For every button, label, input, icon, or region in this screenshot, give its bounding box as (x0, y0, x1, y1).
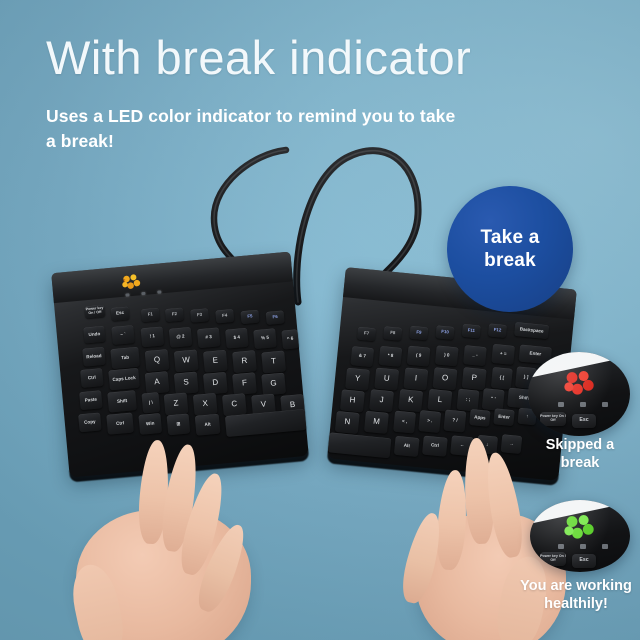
key-backspace[interactable]: Backspace (514, 322, 549, 339)
key-e[interactable]: E (203, 350, 228, 373)
key-f6[interactable]: F6 (266, 310, 285, 325)
key-o[interactable]: O (433, 367, 458, 390)
key-undo[interactable]: Undo (83, 326, 105, 344)
take-a-break-line1: Take a (481, 226, 540, 249)
key-f2[interactable]: F2 (165, 308, 184, 323)
key-paste[interactable]: Paste (79, 390, 103, 410)
key-f9[interactable]: F9 (409, 326, 428, 341)
take-a-break-text: Take a break (481, 226, 540, 272)
key-f1[interactable]: F1 (141, 308, 160, 323)
key-z[interactable]: Z (164, 393, 189, 416)
key-l[interactable]: L (427, 389, 452, 412)
key-2[interactable]: @ 2 (169, 327, 193, 348)
key-6[interactable]: ^ 6 (281, 329, 299, 349)
key-8[interactable]: * 8 (379, 346, 403, 367)
key-copy[interactable]: Copy (78, 412, 102, 432)
key-caps-lock[interactable]: Caps Lock (108, 368, 140, 391)
key-comma[interactable]: < , (393, 411, 416, 434)
healthy-magnifier-glass (530, 500, 630, 572)
key-win[interactable]: Win (138, 413, 162, 435)
key-f8[interactable]: F8 (383, 326, 402, 341)
key-m[interactable]: M (364, 411, 389, 434)
key-minus[interactable]: _ - (463, 345, 487, 366)
key-5[interactable]: % 5 (253, 328, 277, 349)
healthy-line1: You are working (512, 578, 640, 596)
healthy-label: You are working healthily! (512, 578, 640, 613)
key-x[interactable]: X (193, 393, 218, 416)
key-t[interactable]: T (261, 351, 286, 374)
skipped-break-magnifier: Power key On / Off Esc (528, 352, 630, 436)
key-3[interactable]: # 3 (197, 327, 221, 348)
key-k[interactable]: K (398, 389, 423, 412)
key-shift[interactable]: Shift (107, 390, 137, 412)
skipped-line2: break (525, 455, 635, 473)
key-7[interactable]: & 7 (350, 346, 374, 367)
key-4[interactable]: $ 4 (225, 328, 249, 349)
keyboard-left-keys: Power key On / Off Esc F1 F2 F3 F4 F5 F6… (51, 252, 309, 478)
key-r[interactable]: R (232, 350, 257, 373)
key-period[interactable]: > . (418, 410, 441, 433)
key-c[interactable]: C (222, 393, 247, 416)
key-tilde[interactable]: ~ ` (111, 325, 135, 345)
key-d[interactable]: D (203, 372, 228, 395)
key-bracket-left[interactable]: { [ (491, 367, 513, 390)
key-f5[interactable]: F5 (240, 310, 259, 325)
key-f10[interactable]: F10 (435, 325, 454, 340)
key-ctrl-left[interactable]: Ctrl (80, 368, 104, 388)
key-windows-icon[interactable]: ⊞ (167, 413, 191, 435)
skipped-line1: Skipped a (525, 437, 635, 455)
key-space-right[interactable] (328, 432, 392, 458)
key-i[interactable]: I (403, 367, 428, 390)
key-1[interactable]: ! 1 (141, 326, 165, 347)
key-f4[interactable]: F4 (215, 309, 234, 324)
key-slash[interactable]: ? / (443, 410, 466, 433)
key-h[interactable]: H (340, 389, 365, 412)
key-esc[interactable]: Esc (111, 306, 130, 321)
page-subheading: Uses a LED color indicator to remind you… (46, 104, 466, 154)
key-power[interactable]: Power key On / Off (84, 305, 105, 319)
key-0[interactable]: ) 0 (435, 345, 459, 366)
key-n[interactable]: N (335, 411, 360, 434)
key-f11[interactable]: F11 (462, 324, 481, 339)
key-alt[interactable]: Alt (195, 414, 221, 436)
key-y[interactable]: Y (345, 368, 370, 391)
key-f12[interactable]: F12 (488, 323, 507, 338)
key-g[interactable]: G (261, 373, 286, 396)
key-q[interactable]: Q (145, 349, 170, 372)
key-ctrl-bottom[interactable]: Ctrl (106, 413, 134, 435)
page-title: With break indicator (46, 33, 471, 83)
key-f[interactable]: F (232, 372, 257, 395)
key-p[interactable]: P (462, 367, 487, 390)
key-apps[interactable]: Apps (469, 409, 490, 427)
key-f3[interactable]: F3 (190, 308, 209, 323)
key-a[interactable]: A (145, 371, 170, 394)
key-9[interactable]: ( 9 (407, 346, 431, 367)
key-semicolon[interactable]: : ; (457, 389, 480, 412)
key-quote[interactable]: " ' (482, 388, 505, 411)
promo-image: r Power key On / Off Esc F1 F2 F3 F4 F5 … (0, 0, 640, 640)
left-hand (58, 452, 288, 640)
key-equals[interactable]: + = (491, 344, 515, 365)
take-a-break-line2: break (481, 249, 540, 272)
healthy-magnifier: Power key On / Off Esc (530, 500, 630, 572)
keyboard-left-half: r Power key On / Off Esc F1 F2 F3 F4 F5 … (51, 252, 309, 478)
key-tab[interactable]: Tab (110, 347, 140, 369)
key-s[interactable]: S (174, 372, 199, 395)
key-f7[interactable]: F7 (357, 327, 376, 342)
key-backslash[interactable]: | \ (141, 392, 160, 413)
key-enter-right[interactable]: Enter (493, 408, 514, 426)
skipped-magnifier-glass (528, 352, 630, 436)
key-u[interactable]: U (374, 368, 399, 391)
healthy-line2: healthily! (512, 596, 640, 614)
key-j[interactable]: J (369, 389, 394, 412)
take-a-break-callout: Take a break (447, 186, 573, 312)
skipped-break-label: Skipped a break (525, 437, 635, 472)
key-reload[interactable]: Reload (82, 347, 106, 367)
key-w[interactable]: W (174, 349, 199, 372)
